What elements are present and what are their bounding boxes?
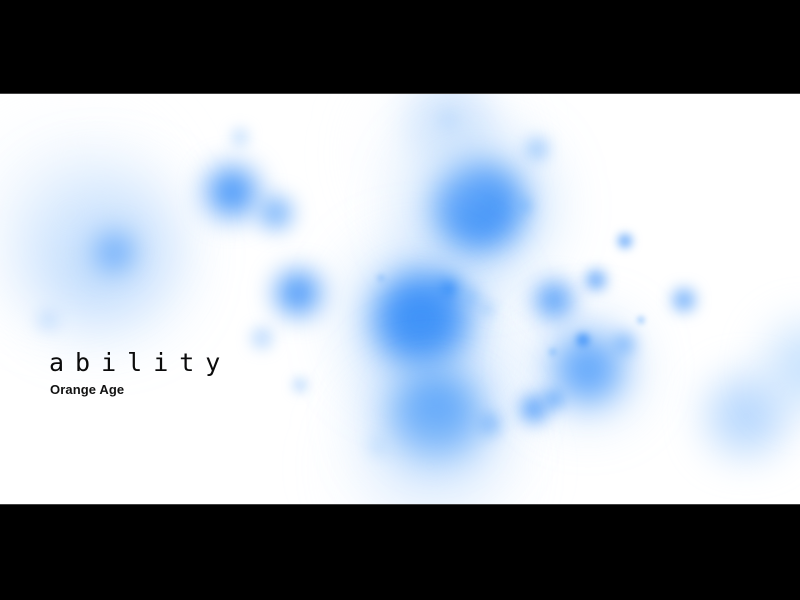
bokeh-circle — [618, 234, 632, 248]
bokeh-circle — [26, 178, 174, 326]
bokeh-circle — [293, 378, 307, 392]
bokeh-circle — [525, 137, 549, 161]
title-card-screen: ability Orange Age — [0, 0, 800, 600]
bokeh-circle — [378, 275, 384, 281]
bokeh-circle — [275, 270, 321, 316]
bokeh-circle — [370, 350, 502, 482]
bokeh-circle — [437, 109, 459, 131]
bokeh-circle — [549, 348, 557, 356]
bokeh-circle — [673, 289, 695, 311]
title-block: ability Orange Age — [49, 350, 231, 396]
bokeh-circle — [480, 302, 494, 316]
bokeh-circle — [576, 333, 590, 347]
bokeh-circle — [0, 124, 160, 304]
bokeh-circle — [520, 395, 548, 423]
bokeh-circle — [259, 196, 293, 230]
bokeh-circle — [408, 136, 548, 276]
letterbox-bar-bottom — [0, 504, 800, 600]
bokeh-circle — [478, 413, 500, 435]
page-title: ability — [49, 350, 231, 375]
bokeh-circle — [637, 316, 645, 324]
image-stage: ability Orange Age — [0, 94, 800, 504]
bokeh-circle — [406, 94, 490, 162]
bokeh-circle — [704, 374, 788, 458]
bokeh-circle — [38, 310, 58, 330]
bokeh-circle — [536, 317, 640, 421]
bokeh-circle — [764, 322, 800, 410]
bokeh-circle — [252, 328, 272, 348]
bokeh-circle — [369, 436, 389, 456]
bokeh-circle — [586, 270, 606, 290]
bokeh-circle — [440, 281, 456, 297]
bokeh-circle — [370, 94, 510, 224]
bokeh-circle — [93, 231, 133, 271]
bokeh-circle — [515, 198, 531, 214]
bokeh-circle — [613, 333, 635, 355]
bokeh-circle — [352, 388, 508, 504]
bokeh-circle — [535, 281, 573, 319]
bokeh-circle — [430, 270, 466, 306]
bokeh-circle — [349, 247, 493, 391]
page-subtitle: Orange Age — [50, 383, 231, 396]
bokeh-layer — [0, 94, 800, 504]
letterbox-bar-top — [0, 0, 800, 94]
bokeh-circle — [394, 374, 478, 458]
bokeh-circle — [555, 336, 621, 402]
bokeh-circle — [436, 163, 522, 249]
bokeh-circle — [544, 389, 564, 409]
bokeh-circle — [375, 273, 467, 365]
bokeh-circle — [231, 128, 249, 146]
bokeh-circle — [206, 166, 258, 218]
bokeh-circle — [461, 289, 479, 307]
